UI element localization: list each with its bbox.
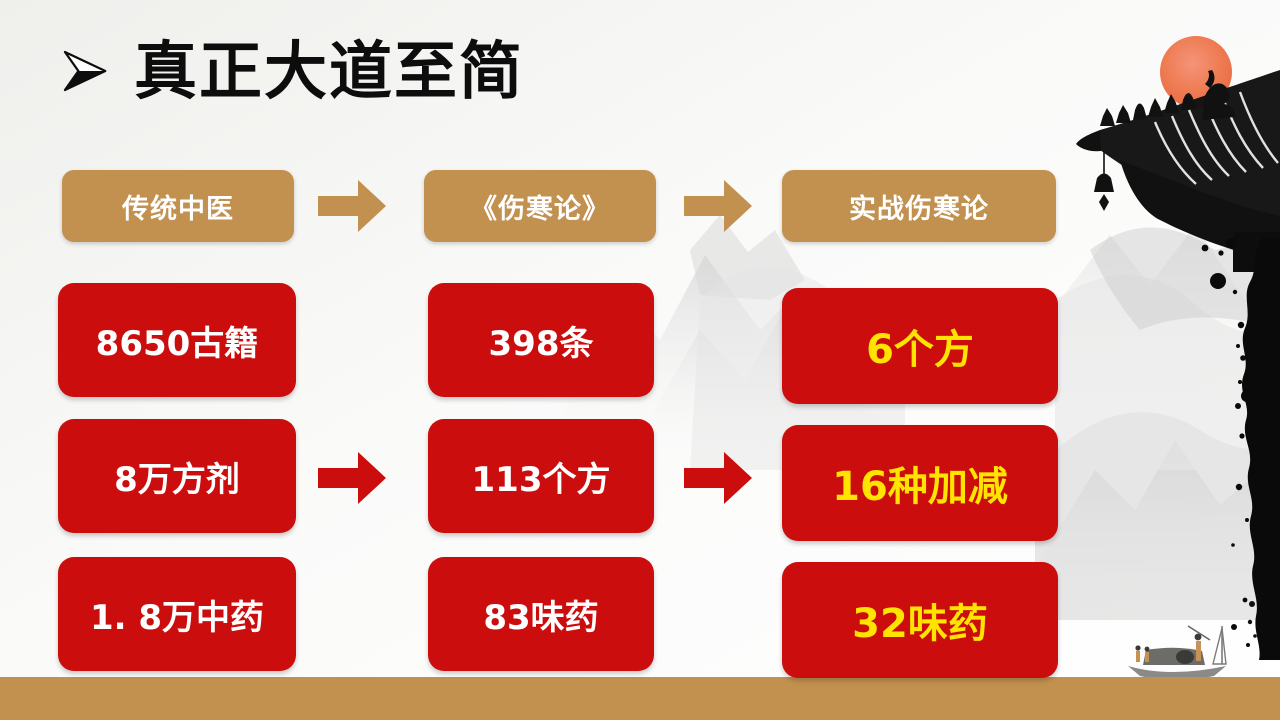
cell-r1c1[interactable]: 8650古籍 (58, 283, 296, 397)
cell-label: 8万方剂 (114, 452, 240, 501)
cell-label: 398条 (489, 316, 594, 365)
row-arrow-1 (318, 450, 388, 506)
cell-r3c2[interactable]: 83味药 (428, 557, 654, 671)
header-box-label: 传统中医 (122, 187, 234, 226)
header-arrow-2 (684, 178, 754, 234)
chinese-roof-eave-illustration (1076, 70, 1280, 262)
header-box-traditional-tcm[interactable]: 传统中医 (62, 170, 294, 242)
cell-r3c3[interactable]: 32味药 (782, 562, 1058, 678)
river-boat-illustration (1128, 626, 1226, 680)
cell-r3c1[interactable]: 1. 8万中药 (58, 557, 296, 671)
cell-r2c3[interactable]: 16种加减 (782, 425, 1058, 541)
row-arrow-2 (684, 450, 754, 506)
cell-r1c3[interactable]: 6个方 (782, 288, 1058, 404)
cell-label: 8650古籍 (96, 316, 259, 365)
page-title: 真正大道至简 (134, 40, 524, 103)
cell-label: 83味药 (483, 590, 598, 639)
header-box-label: 《伤寒论》 (470, 187, 610, 226)
cell-label: 113个方 (472, 452, 611, 501)
ink-mountain-right (1035, 225, 1280, 620)
roof-figurines (1100, 70, 1235, 126)
cell-r2c2[interactable]: 113个方 (428, 419, 654, 533)
ink-splash (1202, 238, 1280, 660)
slide-title-row: 真正大道至简 (56, 30, 524, 112)
cell-label: 16种加减 (832, 454, 1008, 512)
hanging-bell (1094, 152, 1114, 211)
cell-label: 32味药 (852, 591, 988, 649)
sun-circle (1160, 36, 1232, 108)
header-arrow-1 (318, 178, 388, 234)
cell-r1c2[interactable]: 398条 (428, 283, 654, 397)
header-box-label: 实战伤寒论 (849, 187, 989, 226)
slide-canvas: 真正大道至简 传统中医 《伤寒论》 实战伤寒论 8650古籍 398条 6个方 … (0, 0, 1280, 720)
header-box-practical-shanghanlun[interactable]: 实战伤寒论 (782, 170, 1056, 242)
cell-label: 1. 8万中药 (90, 590, 264, 639)
header-box-shanghanlun[interactable]: 《伤寒论》 (424, 170, 656, 242)
arrowhead-bullet-icon (56, 43, 112, 99)
cell-r2c1[interactable]: 8万方剂 (58, 419, 296, 533)
bottom-accent-bar (0, 677, 1280, 720)
cell-label: 6个方 (866, 317, 974, 375)
ink-dots (1248, 601, 1257, 638)
